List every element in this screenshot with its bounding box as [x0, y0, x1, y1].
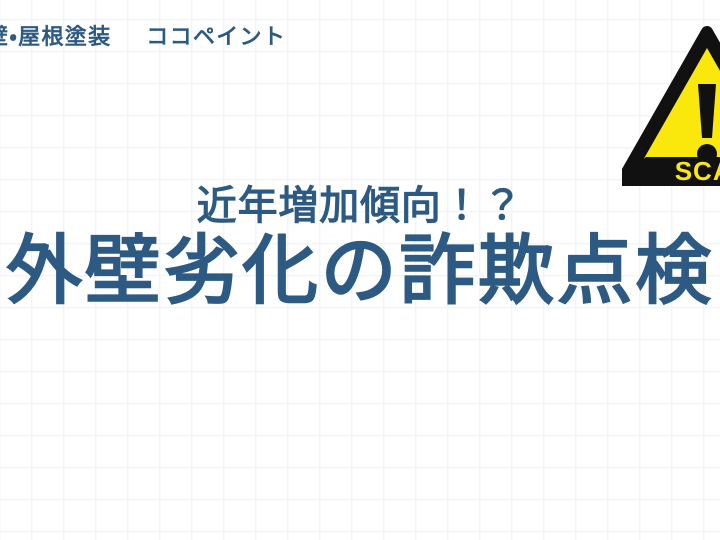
slide-canvas: 壁・屋根塗装 ココペイント 近年増加傾向！？ 外壁劣化の詐欺点検 SCAM	[0, 0, 720, 540]
scam-label: SCAM	[675, 156, 720, 186]
headline-text: 外壁劣化の詐欺点検	[0, 232, 720, 312]
brand-service-label: 壁・屋根塗装	[0, 24, 111, 49]
scam-warning-badge: SCAM	[622, 26, 720, 186]
brand-header: 壁・屋根塗装 ココペイント	[0, 24, 286, 50]
subtitle-text: 近年増加傾向！？	[0, 183, 720, 229]
brand-company-label: ココペイント	[146, 24, 286, 49]
warning-triangle-icon: SCAM	[622, 26, 720, 186]
